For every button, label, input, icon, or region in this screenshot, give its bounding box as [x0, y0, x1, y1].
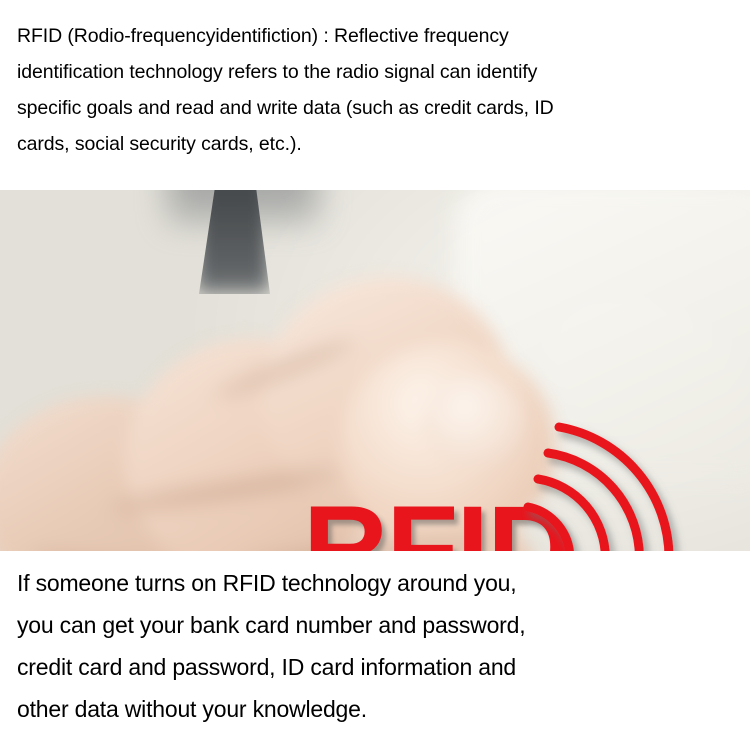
rfid-signal-waves-icon — [526, 423, 706, 551]
top-description-line-1: RFID (Rodio-frequencyidentifiction) : Re… — [17, 18, 736, 54]
top-description-line-4: cards, social security cards, etc.). — [17, 126, 736, 162]
bottom-description-line-3: credit card and password, ID card inform… — [17, 646, 736, 688]
bottom-description-line-1: If someone turns on RFID technology arou… — [17, 562, 736, 604]
top-description-block: RFID (Rodio-frequencyidentifiction) : Re… — [0, 0, 750, 190]
rfid-hand-photo: RFID — [0, 190, 750, 551]
rfid-logo-overlay: RFID — [0, 190, 750, 551]
bottom-description-block: If someone turns on RFID technology arou… — [0, 551, 750, 750]
bottom-description-line-2: you can get your bank card number and pa… — [17, 604, 736, 646]
top-description-line-3: specific goals and read and write data (… — [17, 90, 736, 126]
bottom-description-line-4: other data without your knowledge. — [17, 688, 736, 730]
top-description-line-2: identification technology refers to the … — [17, 54, 736, 90]
product-info-page: RFID (Rodio-frequencyidentifiction) : Re… — [0, 0, 750, 750]
